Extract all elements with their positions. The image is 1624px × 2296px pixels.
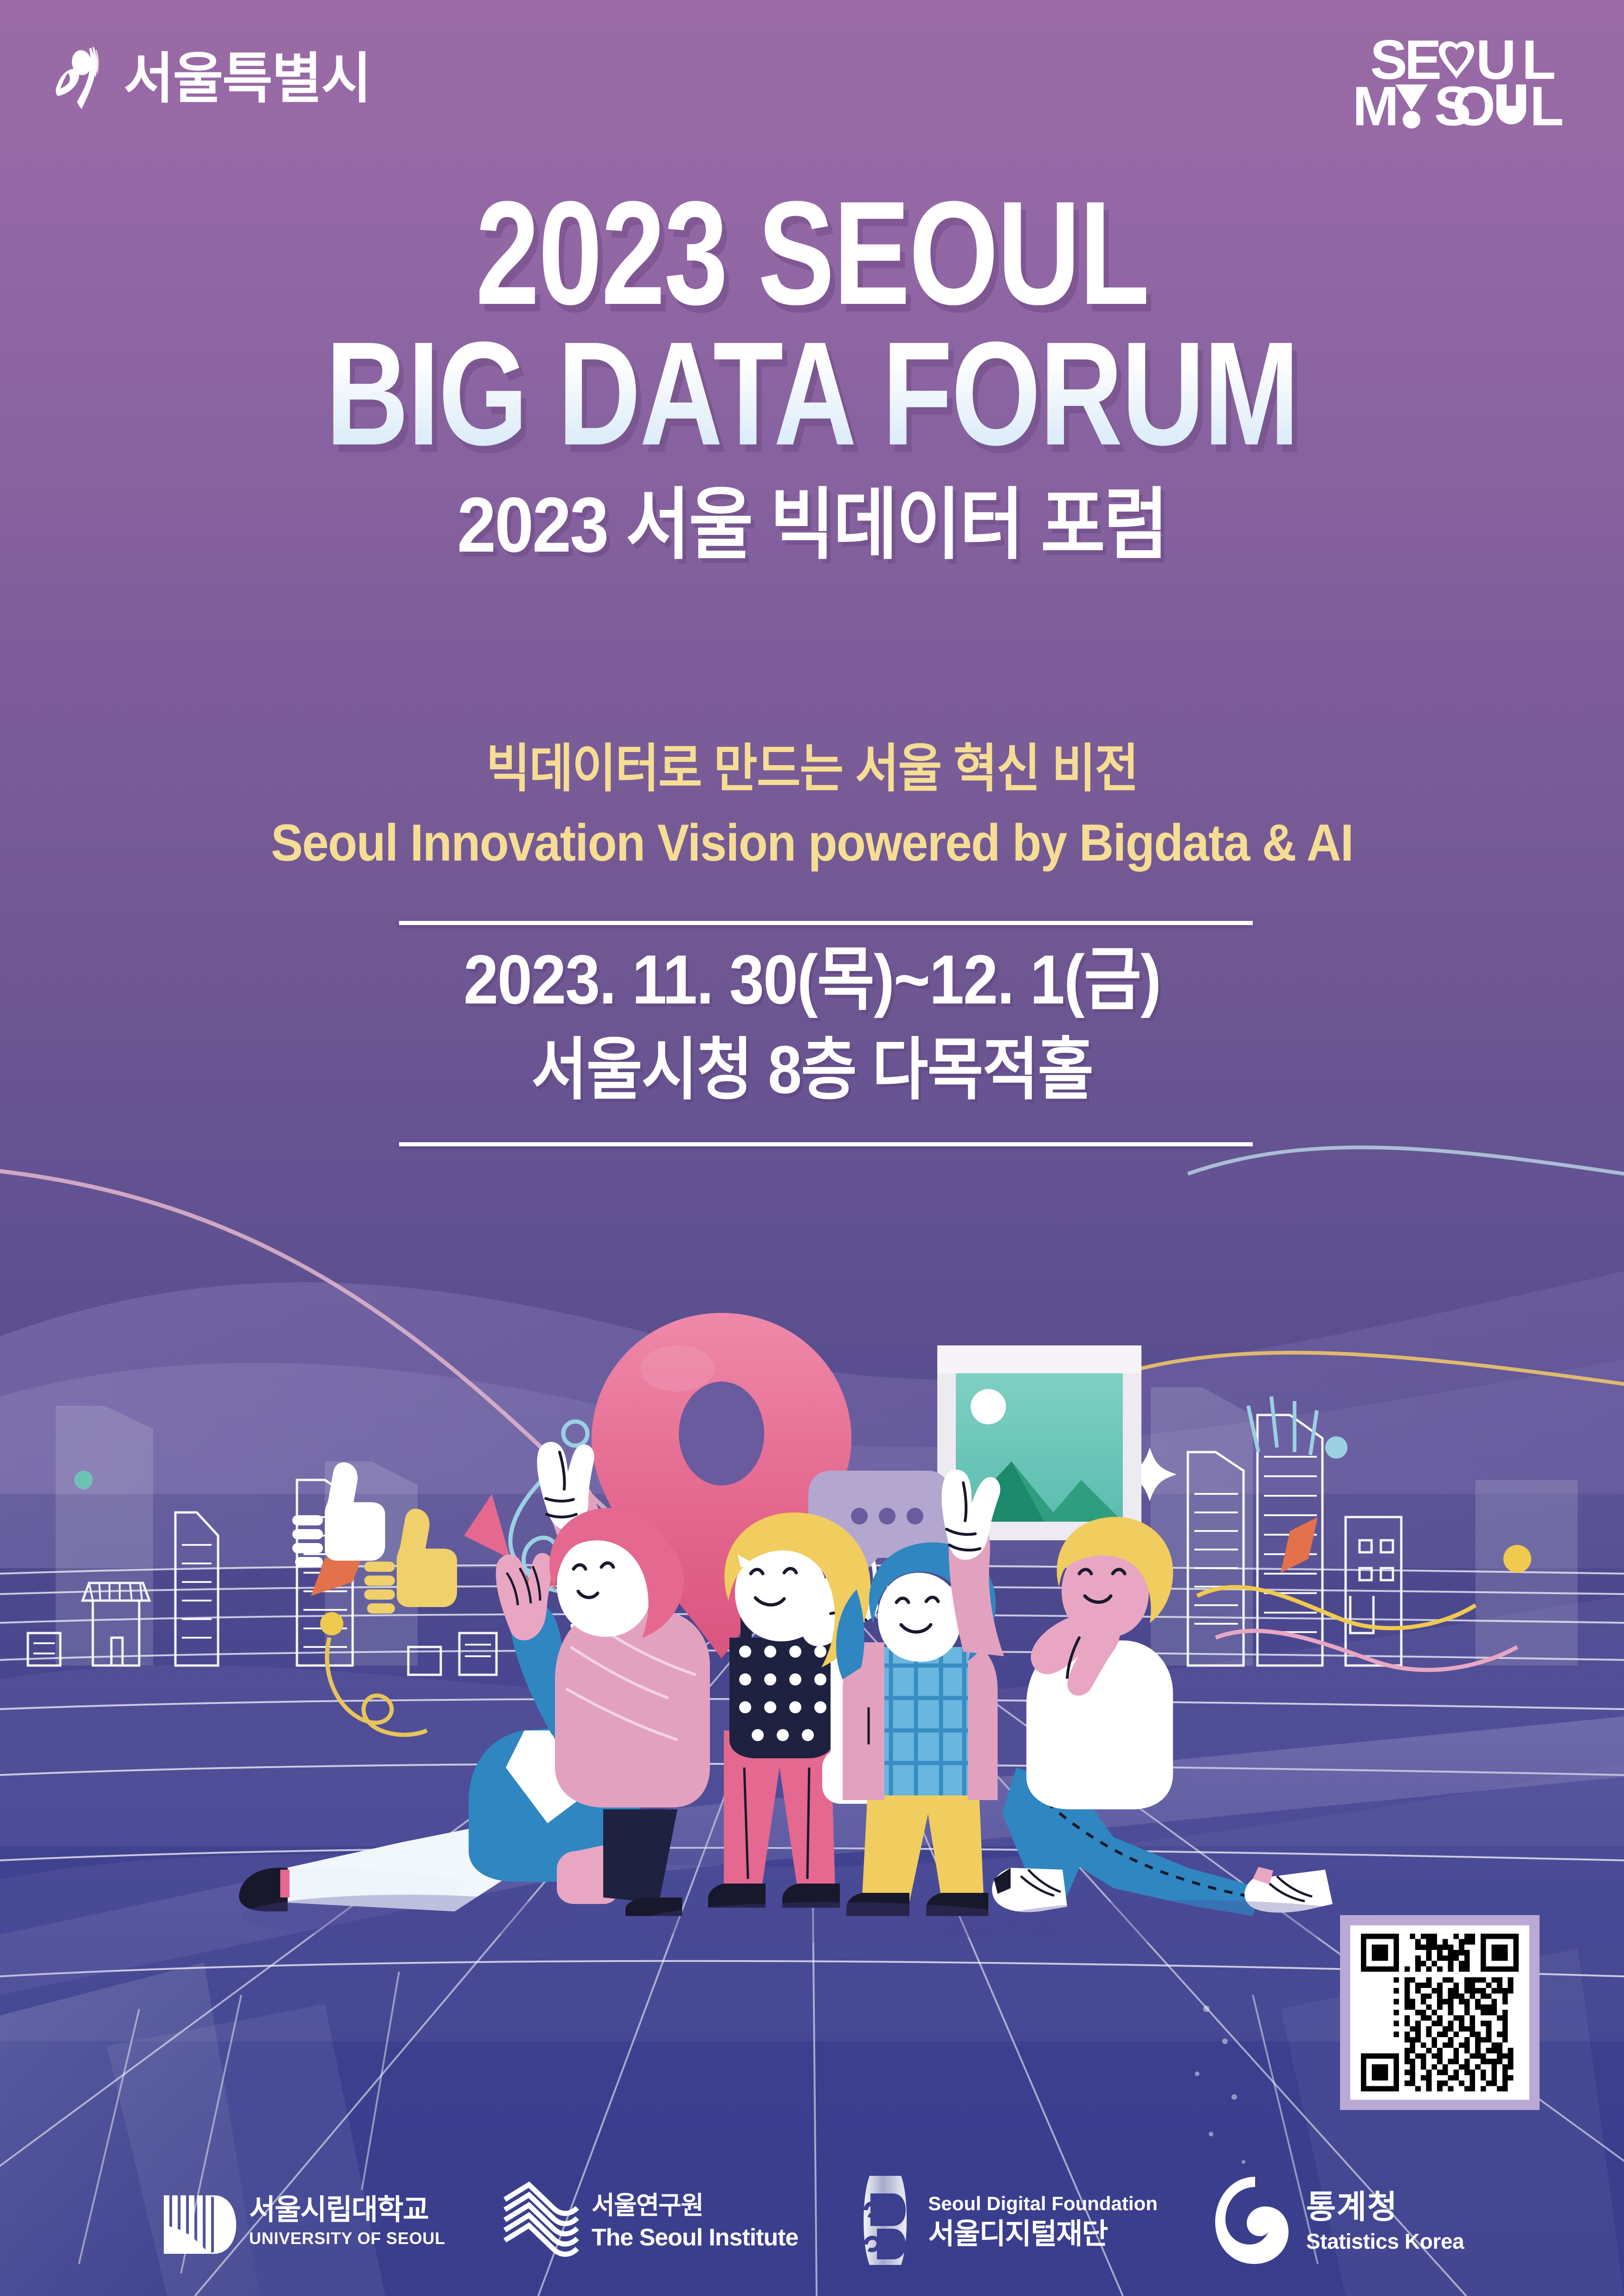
svg-text:L: L (1530, 75, 1562, 129)
event-venue: 서울시청 8층 다목적홀 (81, 1029, 1543, 1111)
pink-wave-icon (1216, 1631, 1517, 1670)
svg-text:SO: SO (1434, 75, 1494, 129)
svg-text:M: M (1353, 75, 1397, 129)
blue-ring-icon (563, 1421, 587, 1446)
seoul-institute-symbol-icon (500, 2181, 581, 2262)
yellow-dot-icon (1503, 1545, 1531, 1573)
title-korean: 2023 서울 빅데이터 포럼 (81, 484, 1543, 566)
footer-logos: 서울시립대학교 UNIVERSITY OF SEOUL 서울연구원 (0, 2157, 1624, 2296)
seoul-digital-foundation-logo-icon: Seoul Digital Foundation 서울디지털재단 (853, 2174, 1158, 2269)
korea-gov-taegeuk-icon (1212, 2174, 1296, 2269)
divider-top (399, 921, 1253, 925)
yellow-dot-icon (320, 1612, 343, 1635)
orange-parallelogram-icon (1281, 1517, 1318, 1573)
statistics-korea-label-kr: 통계청 (1306, 2191, 1464, 2223)
title-line-1: 2023 SEOUL (179, 186, 1445, 322)
seoul-city-logo: 서울특별시 (51, 44, 371, 114)
poster-header: 서울특별시 SE UL M SO (0, 0, 1624, 195)
statistics-korea-logo-icon: 통계청 Statistics Korea (1212, 2174, 1464, 2269)
uos-label-kr: 서울시립대학교 (249, 2196, 445, 2225)
seoul-my-soul-logo-icon: SE UL M SO L (1353, 36, 1571, 129)
seoul-institute-label-kr: 서울연구원 (592, 2193, 798, 2218)
person-right-white-shirt (992, 1517, 1333, 1916)
tagline-block: 빅데이터로 만드는 서울 혁신 비전 Seoul Innovation Visi… (0, 738, 1624, 875)
teal-dot-icon (74, 1471, 93, 1489)
tagline-english: Seoul Innovation Vision powered by Bigda… (65, 812, 1559, 874)
sdf-label-kr: 서울디지털재단 (928, 2220, 1158, 2249)
seoul-institute-label-en: The Seoul Institute (592, 2225, 798, 2250)
qr-code-block[interactable] (1340, 1915, 1540, 2110)
seoul-haechi-symbol-icon (51, 44, 111, 114)
seoul-institute-logo-icon: 서울연구원 The Seoul Institute (500, 2181, 798, 2262)
event-date: 2023. 11. 30(목)~12. 1(금) (81, 937, 1543, 1022)
title-block: 2023 SEOUL BIG DATA FORUM 2023 서울 빅데이터 포… (0, 186, 1624, 566)
university-of-seoul-logo-icon: 서울시립대학교 UNIVERSITY OF SEOUL (160, 2183, 445, 2260)
tagline-korean: 빅데이터로 만드는 서울 혁신 비전 (65, 738, 1559, 800)
sdf-symbol-icon (853, 2174, 918, 2269)
uos-label-en: UNIVERSITY OF SEOUL (249, 2230, 445, 2247)
pink-triangle-icon (464, 1494, 510, 1559)
blue-dot-icon (1325, 1436, 1347, 1459)
title-line-2: BIG DATA FORUM (179, 326, 1445, 462)
poster: 서울특별시 SE UL M SO (0, 0, 1624, 2296)
event-info: 2023. 11. 30(목)~12. 1(금) 서울시청 8층 다목적홀 (0, 937, 1624, 1111)
qr-code-icon[interactable] (1350, 1925, 1529, 2100)
seoul-city-wordmark: 서울특별시 (123, 51, 371, 106)
uos-symbol-icon (160, 2183, 239, 2260)
sdf-label-en: Seoul Digital Foundation (928, 2194, 1158, 2213)
statistics-korea-label-en: Statistics Korea (1306, 2231, 1464, 2252)
